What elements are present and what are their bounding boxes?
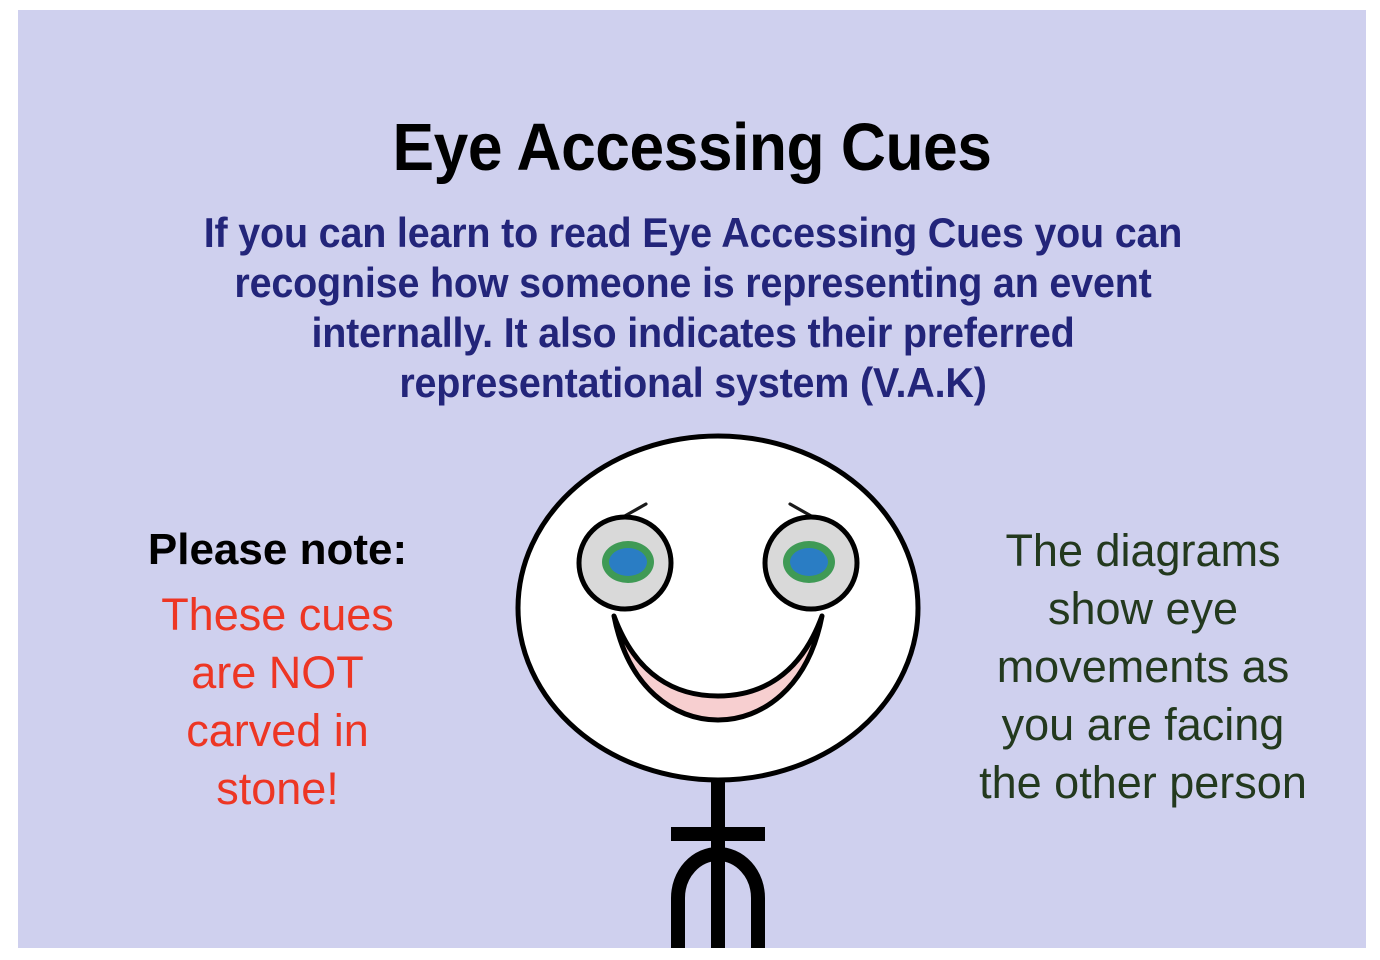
caption-line: show eye xyxy=(938,580,1348,638)
subtitle-line: internally. It also indicates their pref… xyxy=(115,308,1271,358)
page-title: Eye Accessing Cues xyxy=(65,108,1319,188)
please-note-block: Please note: These cues are NOT carved i… xyxy=(80,522,475,818)
please-note-body: These cues are NOT carved in stone! xyxy=(80,586,475,818)
slide-canvas: Eye Accessing Cues If you can learn to r… xyxy=(18,10,1366,948)
note-line: are NOT xyxy=(80,644,475,702)
subtitle-line: If you can learn to read Eye Accessing C… xyxy=(115,208,1271,258)
note-line: stone! xyxy=(80,760,475,818)
subtitle-line: recognise how someone is representing an… xyxy=(115,258,1271,308)
caption-line: movements as xyxy=(938,638,1348,696)
note-line: carved in xyxy=(80,702,475,760)
subtitle-line: representational system (V.A.K) xyxy=(115,358,1271,408)
caption-line: The diagrams xyxy=(938,522,1348,580)
smiley-stick-figure-illustration xyxy=(478,420,958,948)
right-eye-icon xyxy=(765,517,857,609)
diagram-caption-block: The diagrams show eye movements as you a… xyxy=(938,522,1348,812)
stick-body-icon xyxy=(671,760,765,948)
subtitle-paragraph: If you can learn to read Eye Accessing C… xyxy=(115,208,1271,408)
note-line: These cues xyxy=(80,586,475,644)
face-outline-icon xyxy=(518,436,918,780)
caption-line: the other person xyxy=(938,754,1348,812)
please-note-heading: Please note: xyxy=(80,522,475,578)
left-eye-icon xyxy=(579,517,671,609)
caption-line: you are facing xyxy=(938,696,1348,754)
